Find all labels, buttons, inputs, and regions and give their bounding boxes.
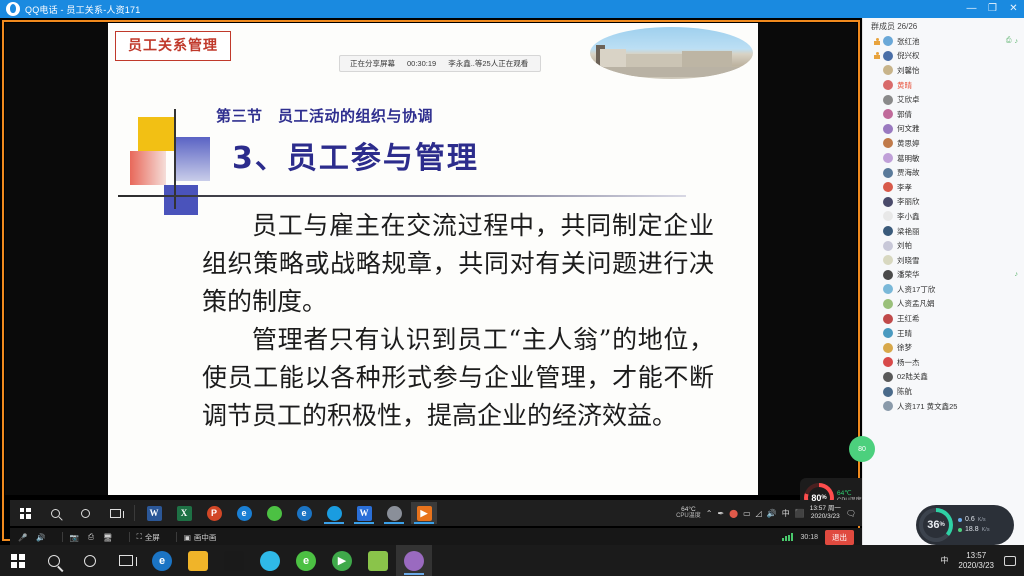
avatar — [883, 182, 893, 192]
taskbar-divider — [134, 505, 135, 521]
taskbar-app-powerpoint[interactable]: P — [201, 502, 227, 524]
network-usage-value: 36 — [927, 519, 939, 531]
inner-taskbar-left: WXPeeW▶ — [10, 500, 439, 526]
network-usage-unit: % — [939, 522, 944, 528]
taskbar-app-file-explorer[interactable] — [180, 545, 216, 576]
member-list-item[interactable]: 徐梦 — [863, 340, 1024, 355]
camera-off-icon[interactable]: 📷 — [70, 533, 79, 542]
member-name: 潘荣华 — [897, 269, 920, 280]
360-browser-icon — [267, 506, 282, 521]
search-icon[interactable] — [40, 500, 70, 526]
member-count-label: 群成员 26/26 — [863, 18, 1024, 34]
slide-decoration — [130, 117, 230, 203]
campus-building-photo — [590, 27, 753, 79]
search-icon[interactable] — [36, 545, 72, 576]
avatar — [883, 138, 893, 148]
task-view-icon[interactable] — [108, 545, 144, 576]
member-list-item[interactable]: 贾海故 — [863, 165, 1024, 180]
avatar — [883, 197, 893, 207]
member-status-icons: ⎙♪ — [1006, 37, 1018, 45]
member-status-icons: ♪ — [1015, 271, 1019, 278]
member-list-item[interactable]: 倪兴权 — [863, 49, 1024, 64]
taskbar-app-microsoft-store[interactable] — [216, 545, 252, 576]
host-taskbar-apps: ee▶ — [144, 545, 432, 576]
internet-explorer-icon: e — [237, 506, 252, 521]
fullscreen-label: 全屏 — [145, 532, 160, 543]
host-slot-empty — [873, 124, 881, 133]
callbar-right: 30:18 退出 — [782, 530, 854, 545]
media-player-icon — [387, 506, 402, 521]
picture-in-picture-icon: ▣ — [184, 533, 191, 542]
powerpoint-show-icon: ▶ — [417, 506, 432, 521]
member-name: 刘晓雪 — [897, 255, 920, 266]
host-slot-empty — [873, 299, 881, 308]
host-slot-empty — [873, 183, 881, 192]
windows-start-icon[interactable] — [0, 545, 36, 576]
taskbar-app-media-player[interactable] — [381, 502, 407, 524]
host-slot-empty — [873, 358, 881, 367]
download-speed-row: 18.8 K/s — [958, 525, 990, 536]
tray-clock-date: 2020/3/23 — [810, 513, 841, 521]
sound-icon: ♪ — [1015, 38, 1019, 45]
fullscreen-icon: ⛶ — [137, 532, 142, 542]
taskbar-app-edge[interactable]: e — [144, 545, 180, 576]
member-list-item[interactable]: 人资171 黄文鑫25 — [863, 399, 1024, 414]
inner-windows-taskbar: WXPeeW▶ 64°C CPU温度 ⌃ ✒ ⬤ ▭ ◿ 🔊 中 — [10, 500, 862, 526]
member-name: 葛明敏 — [897, 153, 920, 164]
screen-icon[interactable]: 🖥 — [103, 533, 113, 542]
pip-button[interactable]: ▣ 画中画 — [184, 532, 217, 543]
cpu-usage-unit: % — [821, 495, 826, 501]
notification-icon[interactable]: 🗨 — [846, 509, 856, 518]
inner-taskbar-apps: WXPeeW▶ — [139, 502, 439, 524]
pen-icon[interactable]: ✒ — [717, 509, 724, 518]
share-screen-icon[interactable]: ⎙ — [88, 532, 94, 542]
avatar — [883, 284, 893, 294]
close-button[interactable]: ✕ — [1003, 0, 1024, 18]
deco-square-blue-2 — [164, 185, 198, 215]
member-list-item[interactable]: 李小鑫 — [863, 209, 1024, 224]
host-taskbar: ee▶ 中 13:57 2020/3/23 — [0, 545, 1024, 576]
member-name: 艾欣卓 — [897, 94, 920, 105]
share-duration: 00:30:19 — [407, 59, 436, 68]
network-usage-ring: 36% — [919, 508, 953, 542]
excel-icon: X — [177, 506, 192, 521]
floating-ball-icon[interactable]: 80 — [849, 436, 875, 462]
taskbar-app-media-player[interactable]: ▶ — [324, 545, 360, 576]
deco-line-horizontal — [118, 195, 686, 197]
file-explorer-icon — [188, 551, 208, 571]
word-icon: W — [147, 506, 162, 521]
avatar — [883, 387, 893, 397]
member-list-item[interactable]: 人资17丁欣 — [863, 282, 1024, 297]
slide-header-text: 员工关系管理 — [128, 38, 218, 54]
callbar-divider-2 — [129, 532, 130, 542]
deco-square-red — [130, 151, 166, 185]
task-view-icon[interactable] — [100, 500, 130, 526]
deco-line-vertical — [174, 109, 176, 209]
window-title: QQ电话 - 员工关系-人资171 — [25, 3, 140, 16]
share-status-bar[interactable]: 正在分享屏幕 00:30:19 李永鑫..等25人正在观看 — [339, 55, 541, 72]
member-list-item[interactable]: 郭倩 — [863, 107, 1024, 122]
member-list-item[interactable]: 杨一杰 — [863, 355, 1024, 370]
mic-muted-icon[interactable]: 🎤 — [18, 533, 27, 542]
media-player-icon: ▶ — [332, 551, 352, 571]
host-slot-empty — [873, 402, 881, 411]
member-name: 刘馨怡 — [897, 65, 920, 76]
host-slot-empty — [873, 81, 881, 90]
notification-icon[interactable] — [1004, 556, 1016, 566]
avatar — [883, 241, 893, 251]
network-icon[interactable]: ▭ — [743, 509, 751, 518]
deco-square-blue-1 — [174, 137, 210, 181]
host-slot-empty — [873, 154, 881, 163]
member-name: 郭倩 — [897, 109, 912, 120]
window-titlebar: QQ电话 - 员工关系-人资171 — ❐ ✕ — [0, 0, 1024, 18]
exit-button[interactable]: 退出 — [825, 530, 854, 545]
avatar — [883, 51, 893, 61]
member-list-item[interactable]: 王晴 — [863, 326, 1024, 341]
download-dot-icon — [958, 528, 962, 532]
callbar-divider-1 — [62, 532, 63, 542]
upload-speed-value: 0.6 — [965, 515, 975, 526]
host-slot-empty — [873, 139, 881, 148]
cortana-icon[interactable] — [70, 500, 100, 526]
host-slot-empty — [873, 343, 881, 352]
sound-icon: ♪ — [1015, 271, 1019, 278]
taskbar-app-edge[interactable]: e — [291, 502, 317, 524]
upload-speed-unit: K/s — [978, 516, 986, 524]
maximize-button[interactable]: ❐ — [982, 0, 1003, 18]
shared-screen-viewport[interactable]: 员工关系管理 第三节 员工活动的组织与协调 — [0, 18, 862, 545]
ime-indicator[interactable]: 中 — [782, 508, 790, 519]
presentation-slide: 员工关系管理 第三节 员工活动的组织与协调 — [108, 23, 758, 495]
member-name: 人资171 黄文鑫25 — [897, 401, 957, 412]
fullscreen-button[interactable]: ⛶ 全屏 — [137, 532, 160, 543]
member-list-item[interactable]: 刘帕 — [863, 238, 1024, 253]
wechat-icon — [260, 551, 280, 571]
member-list-item[interactable]: 人资孟凡娟 — [863, 297, 1024, 312]
host-slot-empty — [873, 329, 881, 338]
window-controls: — ❐ ✕ — [961, 0, 1024, 18]
avatar — [883, 372, 893, 382]
host-clock[interactable]: 13:57 2020/3/23 — [958, 551, 994, 571]
minimize-button[interactable]: — — [961, 0, 982, 18]
member-name: 梁艳丽 — [897, 226, 920, 237]
callbar-divider-3 — [176, 532, 177, 542]
avatar — [883, 328, 893, 338]
member-list[interactable]: 张红池⎙♪倪兴权刘馨怡黄晴艾欣卓郭倩何文雅黄思婷葛明敏贾海故李孝李丽欣李小鑫梁艳… — [863, 34, 1024, 545]
member-name: 张红池 — [897, 36, 920, 47]
avatar — [883, 255, 893, 265]
avatar — [883, 299, 893, 309]
member-name: 人资孟凡娟 — [897, 298, 935, 309]
avatar — [883, 80, 893, 90]
avatar — [883, 109, 893, 119]
network-speed-widget[interactable]: 36% 0.6 K/s 18.8 K/s — [916, 505, 1014, 545]
host-slot-empty — [873, 372, 881, 381]
host-slot-empty — [873, 227, 881, 236]
host-slot-empty — [873, 256, 881, 265]
host-system-tray: 中 13:57 2020/3/23 — [940, 551, 1024, 571]
member-list-item[interactable]: 02陆关鑫 — [863, 370, 1024, 385]
share-status-label: 正在分享屏幕 — [350, 58, 395, 69]
taskbar-app-wechat[interactable] — [252, 545, 288, 576]
host-slot-empty — [873, 197, 881, 206]
avatar — [883, 124, 893, 134]
member-name: 倪兴权 — [897, 50, 920, 61]
host-crown-icon — [873, 37, 881, 46]
slide-header-box: 员工关系管理 — [115, 31, 231, 61]
windows-start-icon[interactable] — [10, 500, 40, 526]
member-name: 黄晴 — [897, 80, 912, 91]
member-list-item[interactable]: 陈航 — [863, 384, 1024, 399]
inner-system-tray: 64°C CPU温度 ⌃ ✒ ⬤ ▭ ◿ 🔊 中 ⬛ 13:57 周一 — [676, 505, 862, 521]
chevron-up-icon[interactable]: ⌃ — [706, 509, 713, 518]
taskbar-app-word[interactable]: W — [141, 502, 167, 524]
avatar — [883, 168, 893, 178]
edge-icon: e — [152, 551, 172, 571]
member-name: 李孝 — [897, 182, 912, 193]
speaker-icon[interactable]: 🔊 — [36, 533, 45, 542]
host-slot-empty — [873, 387, 881, 396]
member-name: 人资17丁欣 — [897, 284, 935, 295]
member-name: 李小鑫 — [897, 211, 920, 222]
taskbar-app-360-browser[interactable]: e — [288, 545, 324, 576]
taskbar-app-qq-game[interactable] — [360, 545, 396, 576]
cortana-icon[interactable] — [72, 545, 108, 576]
avatar — [883, 401, 893, 411]
avatar — [883, 357, 893, 367]
member-name: 刘帕 — [897, 240, 912, 251]
signal-bars-icon — [782, 533, 793, 541]
download-speed-value: 18.8 — [965, 525, 979, 536]
remote-desktop: 员工关系管理 第三节 员工活动的组织与协调 — [5, 23, 857, 495]
member-list-item[interactable]: 梁艳丽 — [863, 224, 1024, 239]
taskbar-app-powerpoint-show[interactable]: ▶ — [411, 502, 437, 524]
avatar — [883, 153, 893, 163]
avatar — [883, 226, 893, 236]
avatar — [883, 36, 893, 46]
host-slot-empty — [873, 212, 881, 221]
share-viewers: 李永鑫..等25人正在观看 — [448, 58, 528, 69]
screen-root: QQ电话 - 员工关系-人资171 — ❐ ✕ 员工关系管理 — [0, 0, 1024, 576]
qq-game-icon — [368, 551, 388, 571]
member-list-item[interactable]: 黄思婷 — [863, 136, 1024, 151]
slide-heading: 3、员工参与管理 — [232, 133, 479, 177]
member-name: 王红希 — [897, 313, 920, 324]
photo-shape-road — [590, 67, 753, 77]
taskbar-app-excel[interactable]: X — [171, 502, 197, 524]
taskbar-app-internet-explorer[interactable]: e — [231, 502, 257, 524]
member-list-item[interactable]: 葛明敏 — [863, 151, 1024, 166]
screen-share-icon: ⎙ — [1006, 37, 1012, 45]
member-list-item[interactable]: 艾欣卓 — [863, 92, 1024, 107]
member-name: 徐梦 — [897, 342, 912, 353]
pip-label: 画中画 — [194, 532, 217, 543]
network-speed-rows: 0.6 K/s 18.8 K/s — [958, 515, 990, 536]
wps-icon: W — [357, 506, 372, 521]
taskbar-app-qq[interactable] — [321, 502, 347, 524]
host-slot-empty — [873, 314, 881, 323]
member-list-item[interactable]: 潘荣华♪ — [863, 268, 1024, 283]
edge-icon: e — [297, 506, 312, 521]
call-control-bar: 🎤 🔊 📷 ⎙ 🖥 ⛶ 全屏 ▣ 画中画 — [10, 528, 862, 546]
360-browser-icon: e — [296, 551, 316, 571]
slide-section-title: 第三节 员工活动的组织与协调 — [216, 105, 433, 126]
member-list-item[interactable]: 李孝 — [863, 180, 1024, 195]
avatar — [883, 65, 893, 75]
microsoft-store-icon — [224, 551, 244, 571]
member-list-item[interactable]: 李丽欣 — [863, 195, 1024, 210]
tray-cpu-temp[interactable]: 64°C CPU温度 — [676, 506, 701, 520]
member-name: 02陆关鑫 — [897, 371, 928, 382]
host-clock-time: 13:57 — [958, 551, 994, 561]
host-slot-empty — [873, 66, 881, 75]
avatar — [883, 343, 893, 353]
member-panel: 群成员 26/26 张红池⎙♪倪兴权刘馨怡黄晴艾欣卓郭倩何文雅黄思婷葛明敏贾海故… — [862, 18, 1024, 545]
avatar — [883, 211, 893, 221]
member-name: 王晴 — [897, 328, 912, 339]
member-list-item[interactable]: 刘馨怡 — [863, 63, 1024, 78]
volume-icon[interactable]: 🔊 — [767, 509, 777, 518]
host-slot-empty — [873, 270, 881, 279]
member-list-item[interactable]: 黄晴 — [863, 78, 1024, 93]
host-clock-date: 2020/3/23 — [958, 561, 994, 571]
avatar — [883, 314, 893, 324]
host-slot-empty — [873, 241, 881, 250]
upload-dot-icon — [958, 518, 962, 522]
window-body: 员工关系管理 第三节 员工活动的组织与协调 — [0, 18, 1024, 545]
taskbar-app-360-browser[interactable] — [261, 502, 287, 524]
cpu-usage-value: 80 — [811, 493, 821, 503]
qq-icon — [327, 506, 342, 521]
ime-indicator[interactable]: 中 — [940, 555, 948, 566]
member-name: 杨一杰 — [897, 357, 920, 368]
member-name: 贾海故 — [897, 167, 920, 178]
slide-paragraph-2: 管理者只有认识到员工“主人翁”的地位，使员工能以各种形式参与企业管理，才能不断调… — [202, 321, 714, 435]
qq-penguin-icon — [6, 2, 20, 16]
avatar — [883, 270, 893, 280]
host-slot-empty — [873, 110, 881, 119]
host-crown-icon — [873, 51, 881, 60]
member-name: 陈航 — [897, 386, 912, 397]
host-slot-empty — [873, 285, 881, 294]
powerpoint-icon: P — [207, 506, 222, 521]
taskbar-app-screen-share-app[interactable] — [396, 545, 432, 576]
member-name: 何文雅 — [897, 123, 920, 134]
avatar — [883, 95, 893, 105]
network-usage-percent: 36% — [919, 508, 953, 542]
deco-square-yellow — [138, 117, 174, 151]
wifi-icon[interactable]: ◿ — [756, 509, 762, 518]
slide-paragraph-1: 员工与雇主在交流过程中，共同制定企业组织策略或战略规章，共同对有关问题进行决策的… — [202, 207, 714, 321]
member-list-item[interactable]: 刘晓雪 — [863, 253, 1024, 268]
member-list-item[interactable]: 张红池⎙♪ — [863, 34, 1024, 49]
cpu-usage-ring: 80% — [804, 483, 834, 513]
member-name: 李丽欣 — [897, 196, 920, 207]
download-speed-unit: K/s — [982, 526, 990, 534]
cpu-usage-percent: 80% — [804, 483, 834, 513]
upload-speed-row: 0.6 K/s — [958, 515, 990, 526]
host-slot-empty — [873, 95, 881, 104]
tray-cpu-temp-label: CPU温度 — [676, 513, 701, 520]
member-list-item[interactable]: 王红希 — [863, 311, 1024, 326]
host-slot-empty — [873, 168, 881, 177]
member-list-item[interactable]: 何文雅 — [863, 122, 1024, 137]
shield-icon[interactable]: ⬤ — [729, 509, 738, 518]
taskbar-app-wps[interactable]: W — [351, 502, 377, 524]
call-duration: 30:18 — [800, 534, 818, 541]
screen-share-app-icon — [404, 551, 424, 571]
member-name: 黄思婷 — [897, 138, 920, 149]
